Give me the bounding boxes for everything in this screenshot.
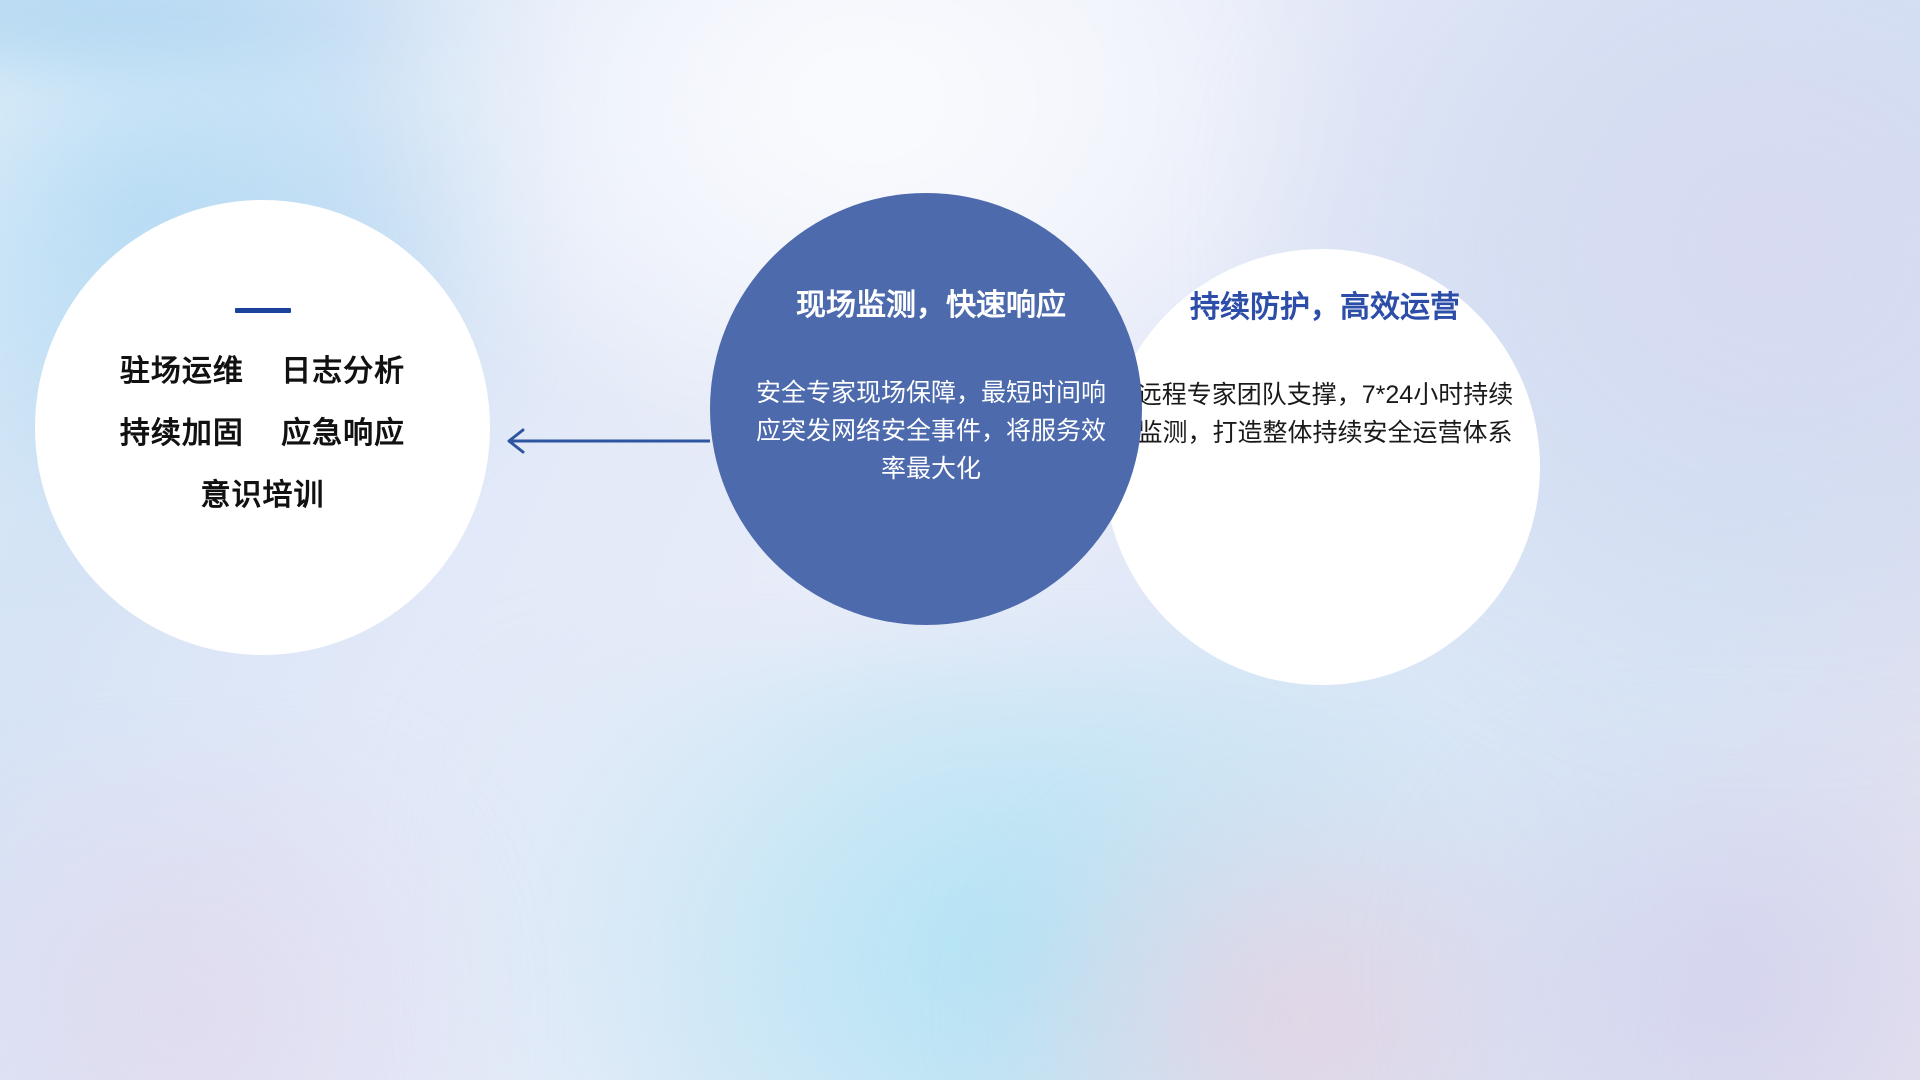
service-circle-right[interactable]: 持续防护，高效运营 远程专家团队支撑，7*24小时持续监测，打造整体持续安全运营… — [1104, 249, 1540, 685]
left-arrow-icon — [495, 424, 710, 458]
capability-line-3: 意识培训 — [35, 481, 490, 511]
capability-circle-left-content: 驻场运维 日志分析 持续加固 应急响应 意识培训 — [35, 308, 490, 511]
background-glow-pink-left-bottom — [0, 760, 490, 1080]
arrow-connector — [495, 424, 710, 458]
capability-line-1: 驻场运维 日志分析 — [35, 357, 490, 387]
service-circle-middle[interactable]: 现场监测，快速响应 安全专家现场保障，最短时间响应突发网络安全事件，将服务效率最… — [710, 193, 1142, 625]
capability-line-2: 持续加固 应急响应 — [35, 419, 490, 449]
service-circle-middle-content: 现场监测，快速响应 安全专家现场保障，最短时间响应突发网络安全事件，将服务效率最… — [736, 289, 1126, 488]
service-circle-middle-title: 现场监测，快速响应 — [736, 289, 1126, 322]
service-circle-middle-body: 安全专家现场保障，最短时间响应突发网络安全事件，将服务效率最大化 — [736, 374, 1126, 488]
service-circle-right-body: 远程专家团队支撑，7*24小时持续监测，打造整体持续安全运营体系 — [1122, 376, 1528, 452]
capability-circle-left[interactable]: 驻场运维 日志分析 持续加固 应急响应 意识培训 — [35, 200, 490, 655]
service-circle-right-content: 持续防护，高效运营 远程专家团队支撑，7*24小时持续监测，打造整体持续安全运营… — [1122, 291, 1528, 452]
background-glow-violet-right-bottom — [1420, 740, 1920, 1080]
service-circle-right-title: 持续防护，高效运营 — [1122, 291, 1528, 324]
divider-dash — [235, 308, 291, 313]
slide-canvas: 驻场运维 日志分析 持续加固 应急响应 意识培训 持续防护，高效运营 远程专家团… — [0, 0, 1920, 1080]
